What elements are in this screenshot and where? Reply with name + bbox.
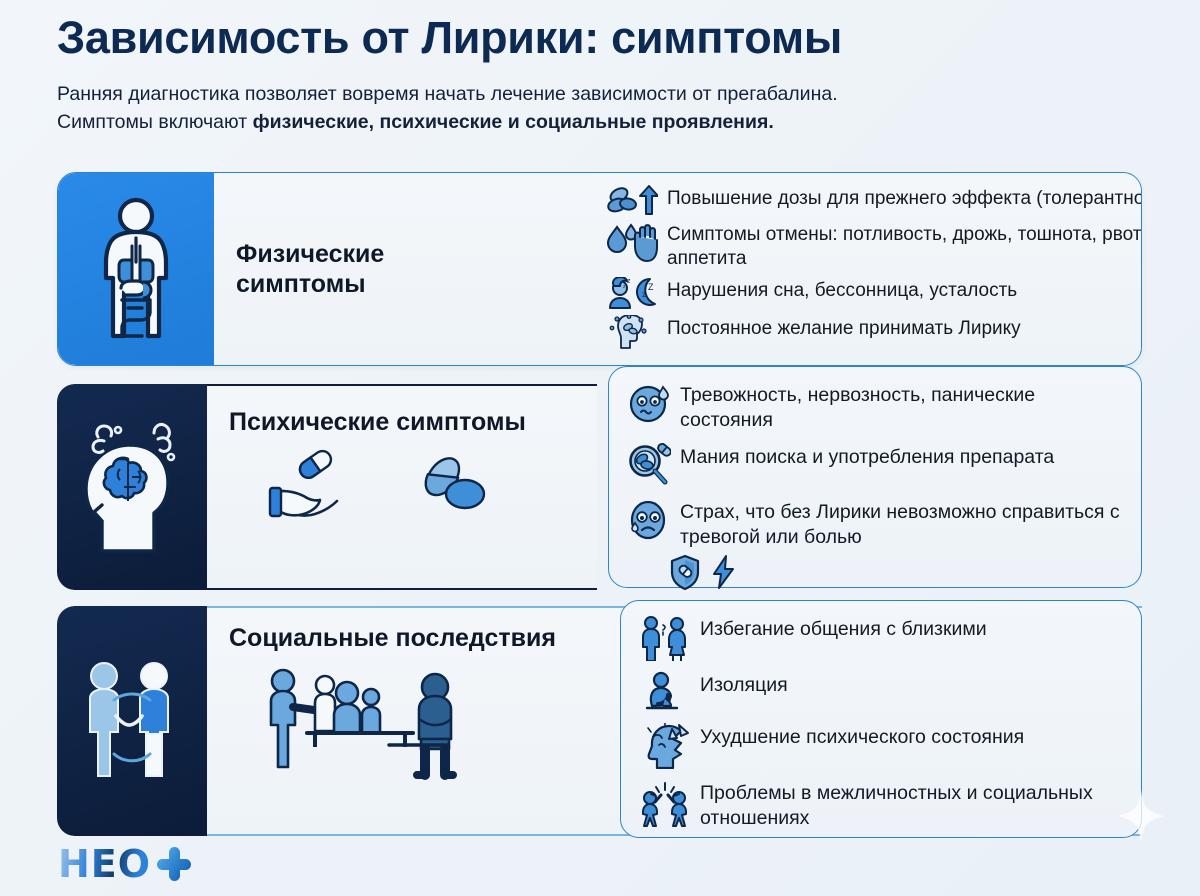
mental-icon-panel <box>57 384 207 590</box>
social-bullets-panel: Избегание общения с близкими Изоляция <box>620 600 1142 838</box>
two-people-conflict-icon <box>639 779 691 827</box>
list-item-text: Повышение дозы для прежнего эффекта (тол… <box>667 185 1142 211</box>
craving-head-icon <box>606 315 658 349</box>
list-item-text: Страх, что без Лирики невозможно справит… <box>680 498 1123 549</box>
card-mental-symptoms[interactable]: Психические симптомы <box>57 384 597 590</box>
card-title-mental: Психические симптомы <box>229 408 526 437</box>
page-subtitle: Ранняя диагностика позволяет вовремя нач… <box>57 81 1142 136</box>
lightning-bolt-icon <box>711 554 737 590</box>
list-item: Постоянное желание принимать Лирику <box>606 315 1142 349</box>
physical-icon-panel <box>58 173 214 365</box>
card-physical-symptoms[interactable]: Физические симптомы Повышени <box>57 172 1142 366</box>
brand-logo[interactable]: НЕО <box>58 842 191 886</box>
list-item-text: Ухудшение психического состояния <box>700 723 1024 750</box>
hand-with-pills-icon <box>267 447 377 523</box>
list-item-text: Тревожность, нервозность, панические сос… <box>680 381 1123 432</box>
list-item: Ухудшение психического состояния <box>639 723 1123 769</box>
person-sitting-alone-icon <box>639 671 691 713</box>
plus-icon <box>157 847 191 881</box>
page-title: Зависимость от Лирики: симптомы <box>57 14 1147 61</box>
mental-bullets-panel: Тревожность, нервозность, панические сос… <box>608 366 1142 588</box>
two-people-handshake-icon <box>76 656 188 786</box>
pills-pair-icon <box>413 452 499 518</box>
shield-pill-icon <box>669 554 701 590</box>
card-title-social: Социальные последствия <box>229 624 556 653</box>
subtitle-line-1: Ранняя диагностика позволяет вовремя нач… <box>57 83 838 105</box>
list-item: Страх, что без Лирики невозможно справит… <box>627 498 1123 549</box>
list-item: Симптомы отмены: потливость, дрожь, тошн… <box>606 221 1142 271</box>
list-item: Изоляция <box>639 671 1123 713</box>
list-item: Тревожность, нервозность, панические сос… <box>627 381 1123 432</box>
list-item-text: Мания поиска и употребления препарата <box>680 443 1054 470</box>
list-item: z z z Z Нарушения сна, бессонница, устал… <box>606 277 1142 309</box>
broken-mind-head-icon <box>639 723 691 769</box>
human-body-organs-icon <box>88 194 184 344</box>
svg-text:Z: Z <box>648 282 654 292</box>
list-item: Проблемы в межличностных и социальных от… <box>639 779 1123 830</box>
list-item-text: Проблемы в межличностных и социальных от… <box>700 779 1123 830</box>
pills-up-arrow-icon <box>606 185 658 215</box>
svg-text:z: z <box>627 278 631 285</box>
list-item-text: Изоляция <box>700 671 788 698</box>
subtitle-line-2-bold: физические, психические и социальные про… <box>253 111 774 133</box>
magnifier-pills-icon <box>627 443 671 487</box>
list-item-text: Нарушения сна, бессонница, усталость <box>667 277 1017 303</box>
group-meeting-isolated-person-icon <box>249 657 519 787</box>
card-title-physical: Физические симптомы <box>236 239 448 300</box>
list-item: Повышение дозы для прежнего эффекта (тол… <box>606 185 1142 215</box>
subtitle-line-2-prefix: Симптомы включают <box>57 111 253 133</box>
infographic-page: Зависимость от Лирики: симптомы Ранняя д… <box>0 0 1200 896</box>
mental-bullet-list: Тревожность, нервозность, панические сос… <box>627 381 1123 590</box>
brain-head-icon <box>74 417 190 557</box>
logo-text: НЕО <box>58 842 151 886</box>
list-item: Избегание общения с близкими <box>639 615 1123 661</box>
list-item-text: Постоянное желание принимать Лирику <box>667 315 1021 341</box>
header: Зависимость от Лирики: симптомы Ранняя д… <box>57 14 1147 137</box>
mental-card-body: Психические симптомы <box>207 384 597 590</box>
list-item-text: Симптомы отмены: потливость, дрожь, тошн… <box>667 221 1142 271</box>
svg-text:z: z <box>642 290 646 299</box>
social-icon-panel <box>57 606 207 836</box>
anxious-face-icon <box>627 381 671 425</box>
worried-face-icon <box>627 498 671 542</box>
social-bullet-list: Избегание общения с близкими Изоляция <box>639 615 1123 840</box>
sweat-drops-trembling-hand-icon <box>606 221 658 265</box>
list-item: Мания поиска и употребления препарата <box>627 443 1123 487</box>
list-item-text: Избегание общения с близкими <box>700 615 987 642</box>
man-avoiding-woman-icon <box>639 615 691 661</box>
physical-card-body: Физические симптомы Повышени <box>214 173 1141 365</box>
sleepy-face-moon-icon: z z z Z <box>606 277 658 309</box>
physical-bullet-list: Повышение дозы для прежнего эффекта (тол… <box>606 185 1142 355</box>
